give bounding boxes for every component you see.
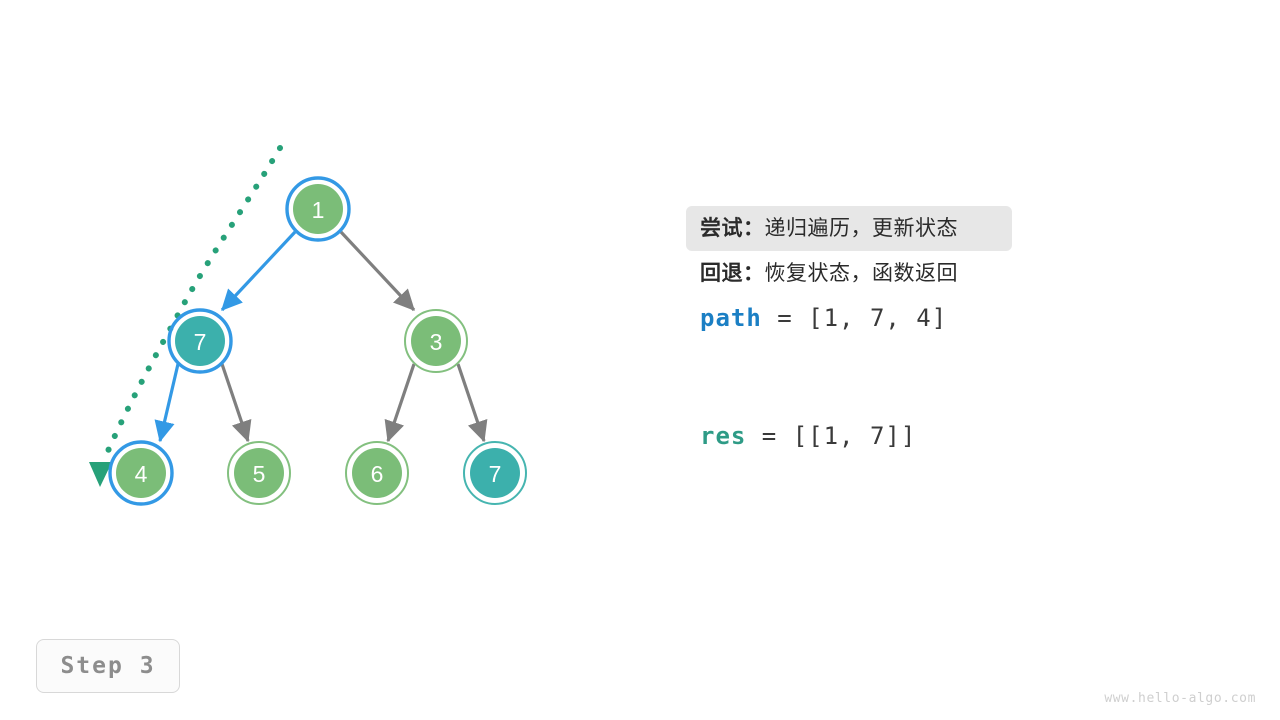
step-badge: Step 3 [36,639,180,693]
panel-line-attempt-value: 递归遍历，更新状态 [765,216,959,241]
res-variable-value: = [[1, 7]] [746,422,916,450]
panel-line-attempt-key: 尝试： [700,216,765,241]
edge-3-to-6 [388,364,414,441]
node-6-label: 6 [371,461,384,487]
node-5-label: 5 [253,461,266,487]
edge-7L-to-4 [160,364,178,441]
tree-node-4[interactable]: 4 [110,442,172,504]
tree-node-5[interactable]: 5 [228,442,290,504]
node-7R-label: 7 [489,461,502,487]
res-variable-name: res [700,422,746,450]
panel-line-backtrack-value: 恢复状态，函数返回 [765,261,959,286]
node-1-label: 1 [312,197,325,223]
node-3-label: 3 [430,329,443,355]
explanation-panel: 尝试：递归遍历，更新状态 回退：恢复状态，函数返回 path = [1, 7, … [686,206,1246,458]
edge-7L-to-5 [222,364,248,441]
path-variable-line: path = [1, 7, 4] [686,296,1246,340]
diagram-canvas: 1 7 3 4 5 [0,0,1280,720]
tree-node-7-right[interactable]: 7 [464,442,526,504]
edge-1-to-7L [222,232,295,310]
panel-line-backtrack: 回退：恢复状态，函数返回 [686,251,1012,296]
path-variable-value: = [1, 7, 4] [762,304,947,332]
res-variable-line: res = [[1, 7]] [686,414,1246,458]
node-4-label: 4 [135,461,148,487]
panel-line-backtrack-key: 回退： [700,261,765,286]
watermark: www.hello-algo.com [1104,691,1256,706]
tree-node-7-left[interactable]: 7 [169,310,231,372]
path-variable-name: path [700,304,762,332]
tree-node-6[interactable]: 6 [346,442,408,504]
panel-spacer [686,340,1246,414]
tree-node-1[interactable]: 1 [287,178,349,240]
edge-1-to-3 [341,232,414,310]
traversal-path [89,148,280,487]
panel-line-attempt: 尝试：递归遍历，更新状态 [686,206,1012,251]
step-badge-label: Step 3 [60,653,155,679]
edge-3-to-7R [458,364,484,441]
tree-node-3[interactable]: 3 [405,310,467,372]
node-7L-label: 7 [194,329,207,355]
binary-tree-graphic: 1 7 3 4 5 [0,0,640,720]
